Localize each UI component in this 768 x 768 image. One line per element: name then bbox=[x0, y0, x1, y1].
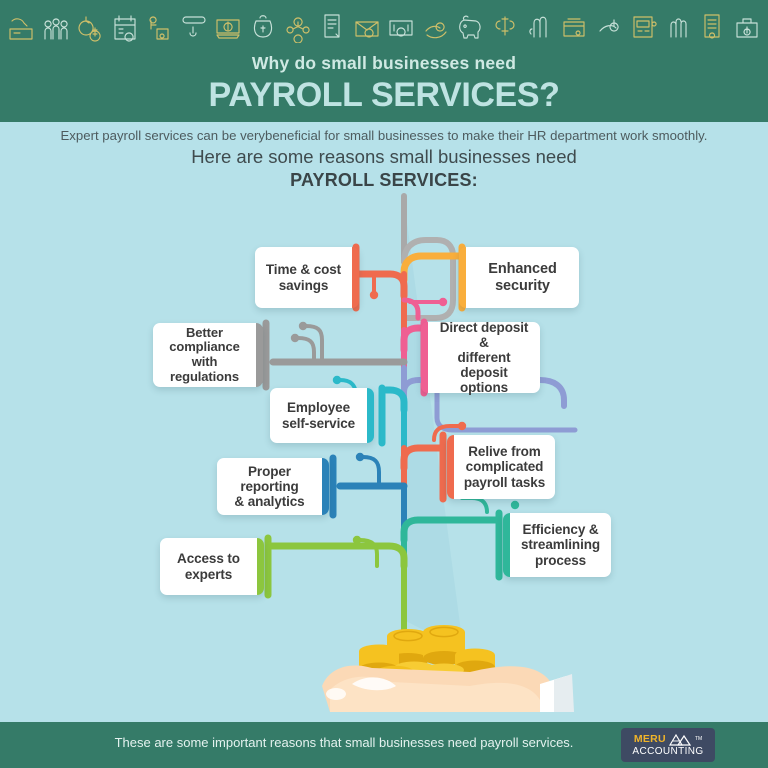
node-enhanced-security[interactable]: Enhancedsecurity bbox=[459, 247, 579, 308]
node-label: Proper reporting& analytics bbox=[217, 464, 322, 509]
stub-gray-2 bbox=[298, 338, 314, 362]
node-label: Bettercompliancewith regulations bbox=[153, 326, 256, 384]
node-direct-deposit[interactable]: Direct deposit &different depositoptions bbox=[421, 322, 540, 393]
intro-line-3: PAYROLL SERVICES: bbox=[0, 170, 768, 191]
intro-line-2: Here are some reasons small businesses n… bbox=[0, 146, 768, 168]
clock-money-cycle-icon bbox=[75, 9, 105, 43]
helping-hands-icon bbox=[663, 9, 693, 43]
dot-red-2 bbox=[458, 422, 466, 430]
envelope-dollar-icon bbox=[352, 9, 382, 43]
hand-giving-money-icon bbox=[6, 9, 36, 43]
stub-green bbox=[360, 540, 377, 566]
mountain-peaks-icon bbox=[669, 733, 691, 746]
logo-brand-name: MERU bbox=[634, 734, 666, 745]
node-label: Efficiency &streamliningprocess bbox=[514, 522, 607, 567]
praying-hands-icon bbox=[524, 9, 554, 43]
node-label: Direct deposit &different depositoptions bbox=[428, 320, 540, 396]
dot-cyan bbox=[333, 376, 341, 384]
person-donation-box-icon bbox=[144, 9, 174, 43]
people-network-dollar-icon bbox=[283, 9, 313, 43]
wire-time-cost-savings bbox=[359, 274, 404, 296]
node-label: Enhancedsecurity bbox=[481, 261, 564, 293]
node-access-to-experts[interactable]: Access toexperts bbox=[160, 538, 264, 595]
wire-efficiency-streamlining bbox=[404, 520, 496, 540]
dot-gray-1 bbox=[299, 322, 307, 330]
meru-accounting-logo[interactable]: MERU TM ACCOUNTING bbox=[621, 728, 715, 762]
logo-trademark: TM bbox=[695, 737, 702, 742]
atm-machine-icon bbox=[628, 9, 658, 43]
node-employee-self-service[interactable]: Employeeself-service bbox=[270, 388, 374, 443]
dot-blue bbox=[356, 453, 364, 461]
node-label: Relive fromcomplicatedpayroll tasks bbox=[457, 444, 552, 489]
donate-hand-click-icon bbox=[179, 9, 209, 43]
hand-holding-gold-coins-icon bbox=[322, 625, 574, 712]
wire-periwinkle-2 bbox=[437, 392, 575, 430]
money-bag-icon bbox=[248, 9, 278, 43]
node-proper-reporting[interactable]: Proper reporting& analytics bbox=[217, 458, 329, 515]
wire-access-to-experts bbox=[272, 546, 404, 566]
dot-pink bbox=[439, 298, 447, 306]
dot-red bbox=[370, 291, 378, 299]
piggy-bank-icon bbox=[455, 9, 485, 43]
node-label: Employeeself-service bbox=[275, 400, 362, 430]
wire-direct-deposit bbox=[404, 328, 421, 350]
contract-document-icon bbox=[697, 9, 727, 43]
stub-teal bbox=[462, 498, 487, 512]
hand-holding-money-icon bbox=[421, 9, 451, 43]
invoice-document-icon bbox=[317, 9, 347, 43]
wire-employee-self-service bbox=[386, 390, 404, 410]
laptop-dollar-icon bbox=[213, 9, 243, 43]
dot-green bbox=[353, 536, 361, 544]
dot-gray-2 bbox=[291, 334, 299, 342]
dot-teal bbox=[511, 501, 519, 509]
node-label: Time & costsavings bbox=[259, 262, 348, 292]
page-title: PAYROLL SERVICES? bbox=[0, 76, 768, 115]
header-icon-strip bbox=[0, 0, 768, 52]
hand-receiving-coin-icon bbox=[594, 9, 624, 43]
node-time-cost-savings[interactable]: Time & costsavings bbox=[255, 247, 359, 308]
calendar-money-icon bbox=[110, 9, 140, 43]
header-eyebrow: Why do small businesses need bbox=[0, 53, 768, 74]
logo-subtitle: ACCOUNTING bbox=[632, 747, 703, 757]
node-efficiency-streamline[interactable]: Efficiency &streamliningprocess bbox=[503, 513, 611, 577]
banknote-icon bbox=[386, 9, 416, 43]
header-banner: Why do small businesses need PAYROLL SER… bbox=[0, 0, 768, 122]
wallet-dollar-icon bbox=[559, 9, 589, 43]
intro-line-1: Expert payroll services can be verybenef… bbox=[0, 128, 768, 143]
wire-gray-loop bbox=[404, 240, 453, 318]
node-label: Access toexperts bbox=[170, 551, 247, 581]
wire-enhanced-security bbox=[404, 256, 459, 280]
wire-relive-payroll-tasks bbox=[404, 448, 440, 468]
wire-pink-upper bbox=[404, 300, 418, 318]
node-relive-payroll-tasks[interactable]: Relive fromcomplicatedpayroll tasks bbox=[447, 435, 555, 499]
node-better-compliance[interactable]: Bettercompliancewith regulations bbox=[153, 323, 263, 387]
group-of-people-icon bbox=[41, 9, 71, 43]
stub-blue bbox=[363, 457, 379, 486]
briefcase-dollar-icon bbox=[732, 9, 762, 43]
stub-gray-1 bbox=[306, 326, 322, 362]
infographic-page: Why do small businesses need PAYROLL SER… bbox=[0, 0, 768, 768]
dollar-exchange-icon bbox=[490, 9, 520, 43]
